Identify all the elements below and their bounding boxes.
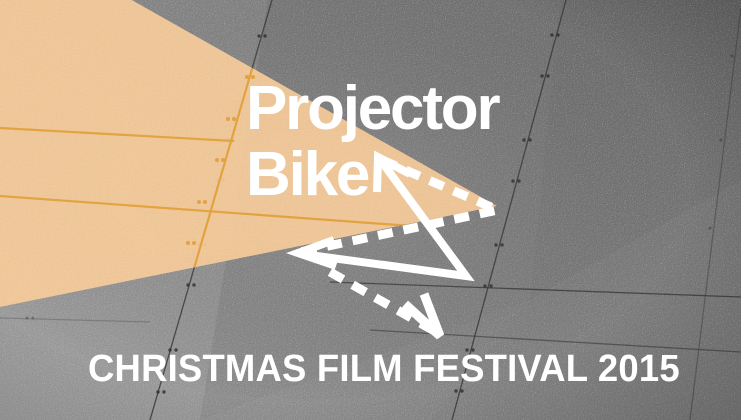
title-line-1: Projector	[246, 74, 498, 143]
poster-canvas: Projector Bike CHRISTMAS FILM FESTIVAL 2…	[0, 0, 741, 420]
festival-caption: CHRISTMAS FILM FESTIVAL 2015	[88, 350, 680, 388]
title-line-2: Bike	[246, 144, 498, 206]
page-title: Projector Bike	[246, 78, 498, 206]
